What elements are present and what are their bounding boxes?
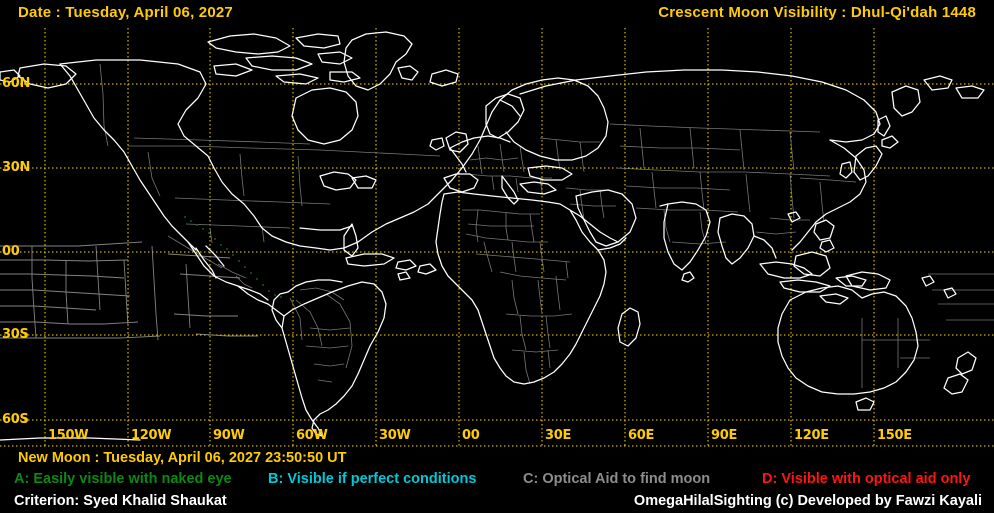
header-bar: Date : Tuesday, April 06, 2027 Crescent … xyxy=(0,0,994,28)
world-map[interactable]: 60N 30N 00 30S 60S 150W 120W 90W 60W 30W… xyxy=(0,28,994,448)
footer-legend: New Moon : Tuesday, April 06, 2027 23:50… xyxy=(0,448,994,513)
map-canvas xyxy=(0,28,994,448)
legend-item-c: C: Optical Aid to find moon xyxy=(523,471,710,487)
lat-label-30S: 30S xyxy=(2,327,29,342)
crescent-visibility-map-app: Date : Tuesday, April 06, 2027 Crescent … xyxy=(0,0,994,513)
new-moon-time: New Moon : Tuesday, April 06, 2027 23:50… xyxy=(18,450,347,466)
lat-label-60S: 60S xyxy=(2,412,29,427)
lon-label-30E: 30E xyxy=(545,428,571,443)
lon-label-120E: 120E xyxy=(794,428,829,443)
lat-label-30N: 30N xyxy=(2,160,30,175)
lon-label-150E: 150E xyxy=(877,428,912,443)
date-label: Date : Tuesday, April 06, 2027 xyxy=(18,4,233,21)
legend-item-a: A: Easily visible with naked eye xyxy=(14,471,232,487)
credit-label: OmegaHilalSighting (c) Developed by Fawz… xyxy=(634,493,982,509)
lat-label-60N: 60N xyxy=(2,76,30,91)
map-background xyxy=(0,28,994,448)
lon-label-90E: 90E xyxy=(711,428,737,443)
lon-label-90W: 90W xyxy=(213,428,245,443)
lon-label-00: 00 xyxy=(462,428,480,443)
lon-label-120W: 120W xyxy=(131,428,171,443)
lon-label-60E: 60E xyxy=(628,428,654,443)
lon-label-150W: 150W xyxy=(48,428,88,443)
criterion-label: Criterion: Syed Khalid Shaukat xyxy=(14,493,227,509)
lat-label-00: 00 xyxy=(2,244,20,259)
legend-item-b: B: Visible if perfect conditions xyxy=(268,471,476,487)
lon-label-30W: 30W xyxy=(379,428,411,443)
legend-item-d: D: Visible with optical aid only xyxy=(762,471,970,487)
page-title: Crescent Moon Visibility : Dhul-Qi'dah 1… xyxy=(658,4,976,21)
lon-label-60W: 60W xyxy=(296,428,328,443)
